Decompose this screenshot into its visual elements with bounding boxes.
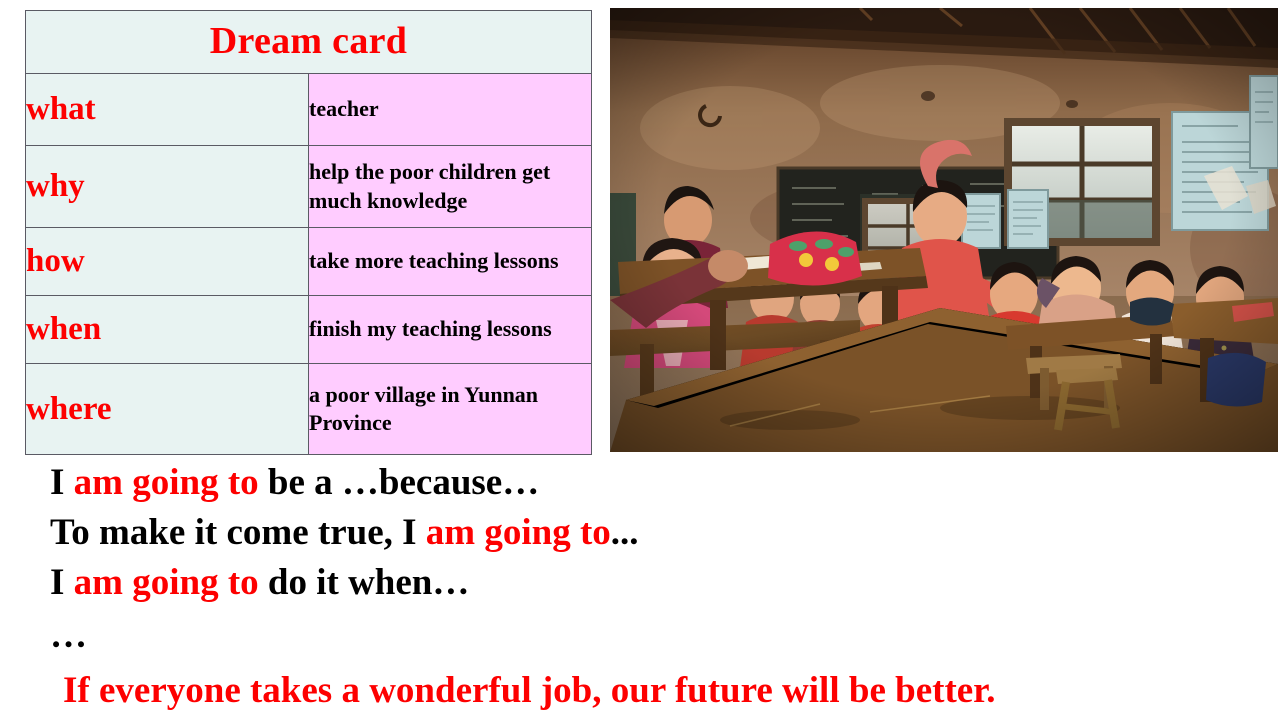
table-row: why help the poor children get much know…	[26, 146, 592, 228]
row-key-what: what	[26, 74, 309, 146]
prompt-line-3-part-c: do it when…	[259, 562, 470, 603]
prompt-line-5-conclusion: If everyone takes a wonderful job, our f…	[0, 664, 1280, 718]
prompt-line-1-part-a: I	[50, 462, 74, 503]
prompt-lines: I am going to be a …because… To make it …	[0, 458, 1280, 718]
value-label: take more teaching lessons	[309, 248, 559, 273]
row-key-how: how	[26, 228, 309, 296]
prompt-line-1-highlight: am going to	[74, 462, 259, 503]
row-value-when: finish my teaching lessons	[309, 296, 592, 364]
table-row-title: Dream card	[26, 11, 592, 74]
table-row: when finish my teaching lessons	[26, 296, 592, 364]
prompt-line-2-part-c: ...	[611, 512, 639, 553]
table-row: how take more teaching lessons	[26, 228, 592, 296]
row-value-why: help the poor children get much knowledg…	[309, 146, 592, 228]
key-label: why	[26, 168, 85, 204]
prompt-line-2-highlight: am going to	[426, 512, 611, 553]
prompt-line-4: …	[0, 608, 1280, 664]
value-label: a poor village in Yunnan Province	[309, 382, 538, 435]
key-label: how	[26, 243, 85, 279]
dream-card-title-cell: Dream card	[26, 11, 592, 74]
page-title: Dream card	[210, 20, 408, 62]
classroom-photo	[610, 8, 1278, 452]
row-key-when: when	[26, 296, 309, 364]
value-label: finish my teaching lessons	[309, 316, 552, 341]
key-label: when	[26, 311, 101, 347]
prompt-line-1: I am going to be a …because…	[0, 458, 1280, 508]
prompt-line-3-highlight: am going to	[74, 562, 259, 603]
prompt-line-2-part-a: To make it come true, I	[50, 512, 426, 553]
row-value-what: teacher	[309, 74, 592, 146]
key-label: what	[26, 91, 96, 127]
prompt-line-3-part-a: I	[50, 562, 74, 603]
classroom-photo-illustration	[610, 8, 1278, 452]
row-key-why: why	[26, 146, 309, 228]
table-row: where a poor village in Yunnan Province	[26, 364, 592, 455]
prompt-line-1-part-c: be a …because…	[259, 462, 540, 503]
value-label: teacher	[309, 96, 379, 121]
key-label: where	[26, 391, 112, 427]
prompt-ellipsis: …	[50, 615, 87, 656]
dream-card-table: Dream card what teacher why help the poo…	[25, 10, 592, 455]
prompt-line-2: To make it come true, I am going to...	[0, 508, 1280, 558]
prompt-line-3: I am going to do it when…	[0, 558, 1280, 608]
row-value-how: take more teaching lessons	[309, 228, 592, 296]
value-label: help the poor children get much knowledg…	[309, 159, 550, 212]
row-value-where: a poor village in Yunnan Province	[309, 364, 592, 455]
row-key-where: where	[26, 364, 309, 455]
table-row: what teacher	[26, 74, 592, 146]
